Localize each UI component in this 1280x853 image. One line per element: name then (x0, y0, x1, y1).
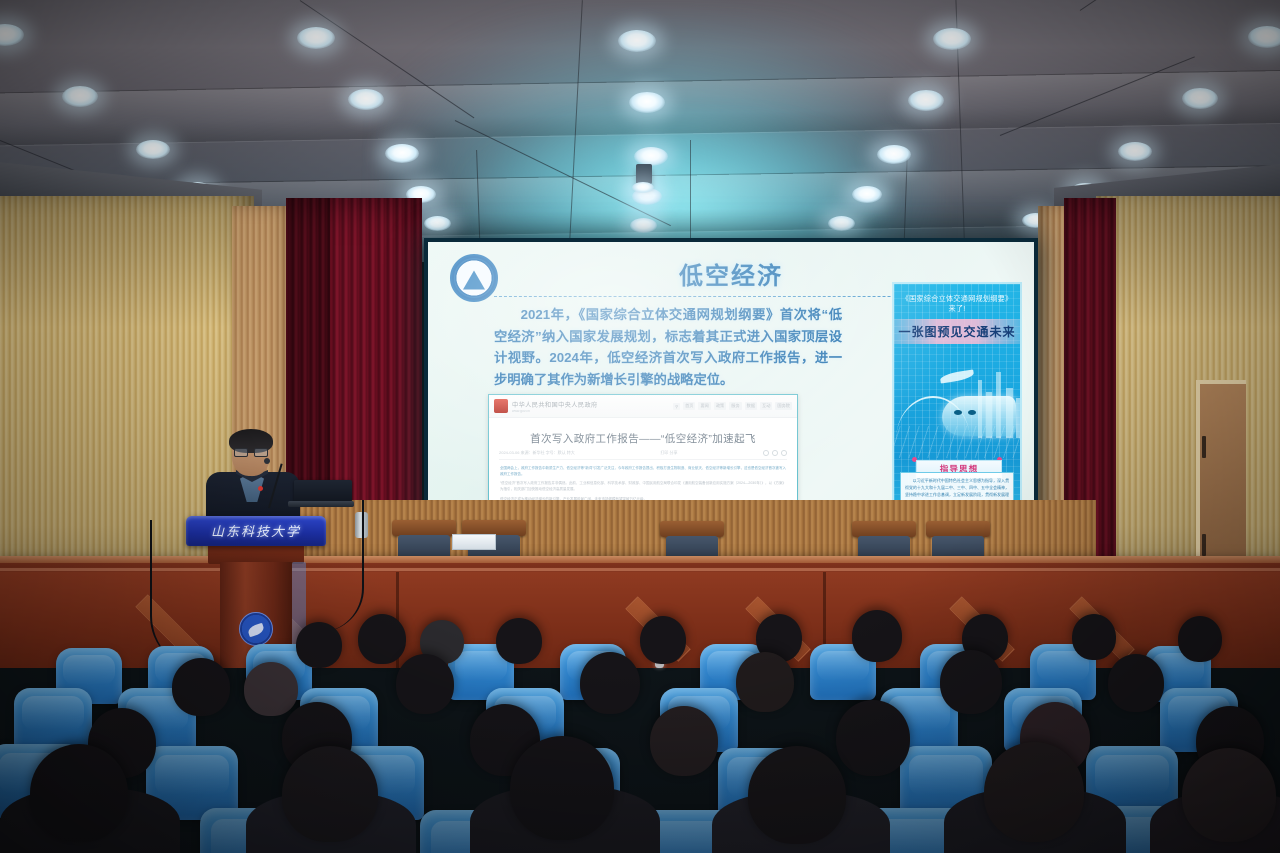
ceiling-light (630, 218, 657, 233)
audience-head (510, 736, 614, 840)
gov-site-header: 中华人民共和国中央人民政府 www.gov.cn ⚲ 首页 要闻 政策 服务 数… (489, 395, 797, 418)
print-icon[interactable] (781, 450, 787, 456)
ceiling-light (908, 90, 944, 111)
auditorium-seat (14, 688, 92, 752)
ceiling-light (136, 140, 170, 159)
audience-head (296, 622, 342, 668)
audience-head (580, 652, 640, 714)
gov-site-domain: www.gov.cn (512, 409, 598, 413)
ceiling-light (424, 216, 451, 231)
high-speed-train-icon (942, 396, 1016, 436)
ceiling-light (828, 216, 855, 231)
audience-head (852, 610, 902, 662)
ceiling-light (1248, 26, 1280, 48)
ceiling-light (385, 144, 419, 163)
gov-nav-item[interactable]: 要闻 (698, 402, 710, 410)
audience-head (282, 746, 378, 842)
audience-head (984, 742, 1084, 842)
transport-plan-poster: 《国家综合立体交通网规划纲要》来了! 一张图预见交通未来 (892, 282, 1022, 537)
gov-nav-item[interactable]: 数据 (745, 402, 757, 410)
gov-nav-item[interactable]: 国务院 (775, 402, 792, 410)
audience-head (358, 614, 406, 664)
ceiling-light (632, 182, 654, 193)
audience-area (0, 596, 1280, 853)
audience-head (650, 706, 718, 776)
gov-nav-item[interactable]: 首页 (683, 402, 695, 410)
poster-headline: 一张图预见交通未来 (894, 319, 1020, 344)
audience-head (940, 650, 1002, 714)
audience-head (1108, 654, 1164, 712)
gov-article-meta: 2024-03-06 来源：新华社 字号：默认 特大 打印 分享 (499, 450, 787, 460)
ceiling-light (62, 86, 98, 107)
gov-nav-item[interactable]: 服务 (729, 402, 741, 410)
share-icon[interactable] (763, 450, 769, 456)
ceiling-light (1118, 142, 1152, 161)
podium-neck (208, 544, 304, 564)
audience-head (836, 700, 910, 776)
podium-banner: 山东科技大学 (186, 516, 326, 546)
gov-site-name: 中华人民共和国中央人民政府 (512, 400, 598, 409)
audience-head (1178, 616, 1222, 662)
audience-head (30, 744, 128, 842)
gov-nav-item[interactable]: 政策 (714, 402, 726, 410)
airplane-icon (940, 369, 975, 383)
audience-head (496, 618, 542, 664)
audience-head (748, 746, 846, 844)
gov-meta-right: 打印 分享 (660, 450, 677, 456)
podium-university-name: 山东科技大学 (186, 521, 326, 540)
audience-head (1182, 748, 1276, 842)
gov-nav: ⚲ 首页 要闻 政策 服务 数据 互动 国务院 (673, 402, 792, 410)
ceiling-projector-mount (636, 164, 652, 184)
audience-head (1072, 614, 1116, 660)
audience-head (736, 652, 794, 712)
microphone-head-icon (264, 458, 270, 464)
door-hinge-icon (1202, 534, 1206, 556)
ceiling-light (348, 89, 384, 110)
ceiling-light (933, 28, 971, 50)
eyeglasses-icon (234, 448, 268, 457)
poster-kicker: 《国家综合立体交通网规划纲要》来了! (900, 294, 1014, 314)
laptop-screen (294, 480, 352, 502)
audience-head (640, 616, 686, 664)
ceiling-light (877, 145, 911, 164)
comment-icon[interactable] (772, 450, 778, 456)
ceiling-light (1182, 88, 1218, 109)
gov-paragraph: “低空经济”首次写入政府工作报告并非偶然。此前，工业和信息化部、科学技术部、财政… (500, 480, 786, 492)
city-skyline-icon (1016, 398, 1020, 438)
ceiling-light (629, 92, 665, 113)
ceiling-wire (1080, 0, 1230, 11)
poster-illustration (894, 362, 1020, 458)
slide-body-text: 2021年，《国家综合立体交通网规划纲要》首次将“低空经济”纳入国家发展规划，标… (494, 304, 842, 390)
audience-head (172, 658, 230, 716)
lapel-pin-icon (258, 486, 263, 491)
ceiling-light (297, 27, 335, 49)
door-hinge-icon (1202, 436, 1206, 458)
gov-paragraph: 全国两会上，政府工作报告中新质生产力、低空经济等“新词”引发广泛关注，今年政府工… (500, 465, 786, 477)
gov-nav-item[interactable]: 互动 (760, 402, 772, 410)
national-emblem-icon (494, 399, 508, 413)
ceiling-light (618, 30, 656, 52)
gov-article-headline: 首次写入政府工作报告——“低空经济”加速起飞 (497, 431, 789, 446)
audience-head (396, 654, 454, 714)
gov-meta-left: 2024-03-06 来源：新华社 字号：默认 特大 (499, 450, 575, 456)
gov-share-icons[interactable] (763, 450, 787, 456)
stage-name-plate (452, 534, 496, 550)
ceiling-light (0, 24, 24, 46)
search-icon[interactable]: ⚲ (673, 403, 680, 410)
ceiling-light (852, 186, 882, 203)
auditorium-photo: 低空经济 2021年，《国家综合立体交通网规划纲要》首次将“低空经济”纳入国家发… (0, 0, 1280, 853)
audience-head (244, 662, 298, 716)
